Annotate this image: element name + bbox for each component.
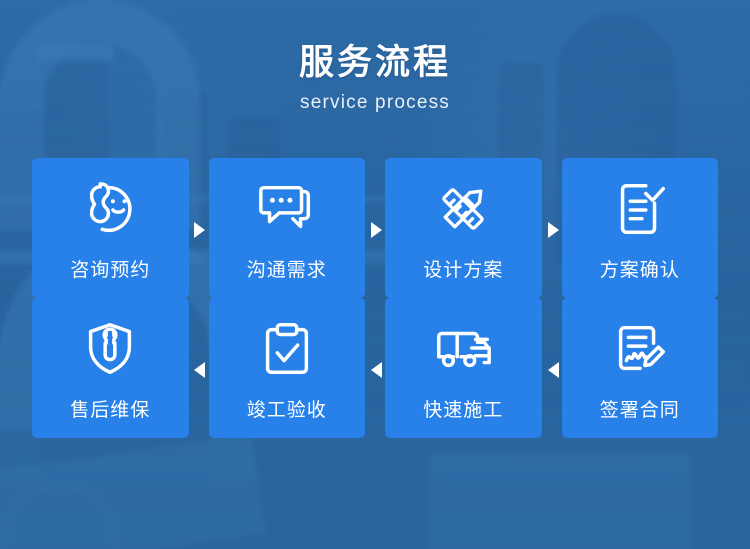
process-step-label: 竣工验收: [247, 395, 327, 422]
process-step-label: 方案确认: [600, 255, 680, 282]
arrow-right-icon: [189, 220, 209, 240]
process-step-confirmation[interactable]: 方案确认: [562, 158, 719, 298]
process-step-label: 快速施工: [423, 395, 503, 422]
process-step-contract[interactable]: 签署合同: [562, 298, 719, 438]
process-row-2: 售后维保 竣工验收: [32, 298, 718, 438]
page-title: 服务流程: [0, 44, 750, 83]
process-step-label: 咨询预约: [70, 255, 150, 282]
process-step-label: 沟通需求: [247, 255, 327, 282]
arrow-right-icon: [543, 220, 563, 240]
process-step-requirements[interactable]: 沟通需求: [209, 158, 366, 298]
process-step-maintenance[interactable]: 售后维保: [32, 298, 189, 438]
process-step-label: 签署合同: [600, 395, 680, 422]
pencil-ruler-icon: [427, 173, 499, 245]
page-header: 服务流程 service process: [0, 44, 750, 114]
clipboard-check-icon: [251, 313, 323, 385]
service-process-grid: 咨询预约 沟通需求: [32, 158, 718, 438]
process-step-label: 设计方案: [423, 255, 503, 282]
contract-signature-icon: [604, 313, 676, 385]
process-step-acceptance[interactable]: 竣工验收: [209, 298, 366, 438]
arrow-left-icon: [366, 360, 386, 380]
process-step-construction[interactable]: 快速施工: [385, 298, 542, 438]
phone-smiley-icon: [74, 173, 146, 245]
document-check-icon: [604, 173, 676, 245]
shield-wrench-icon: [74, 313, 146, 385]
process-step-consultation[interactable]: 咨询预约: [32, 158, 189, 298]
chat-bubbles-icon: [251, 173, 323, 245]
arrow-left-icon: [543, 360, 563, 380]
arrow-right-icon: [366, 220, 386, 240]
delivery-truck-icon: [427, 313, 499, 385]
process-step-label: 售后维保: [70, 395, 150, 422]
process-step-design[interactable]: 设计方案: [385, 158, 542, 298]
arrow-left-icon: [189, 360, 209, 380]
page-subtitle: service process: [0, 92, 750, 114]
process-row-1: 咨询预约 沟通需求: [32, 158, 718, 298]
